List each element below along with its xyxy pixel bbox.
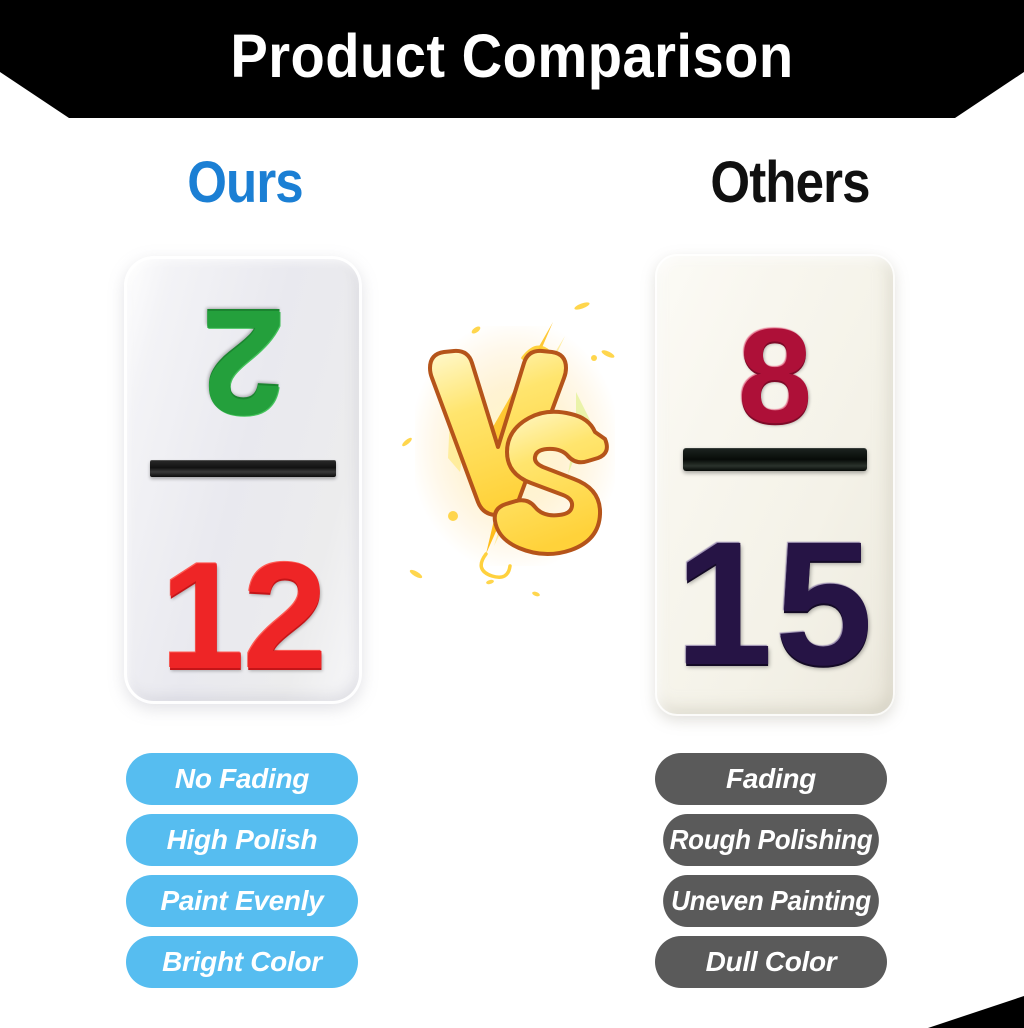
feature-pill-label: Dull Color [706, 946, 837, 977]
product-tile-others: 8 15 [655, 254, 895, 716]
feature-pill-ours-0[interactable]: No Fading [126, 753, 358, 805]
feature-pill-label: High Polish [167, 824, 318, 855]
feature-pill-others-0[interactable]: Fading [655, 753, 887, 805]
column-heading-others: Others [658, 148, 922, 218]
page-title: Product Comparison [41, 22, 983, 90]
feature-pill-others-3[interactable]: Dull Color [655, 936, 887, 988]
column-heading-ours: Ours [113, 148, 377, 218]
feature-pill-label: Rough Polishing [670, 824, 873, 855]
tile-others-bottom-number: 15 [655, 516, 895, 692]
feature-pill-ours-3[interactable]: Bright Color [126, 936, 358, 988]
feature-pill-label: Paint Evenly [161, 885, 324, 916]
feature-pill-others-2[interactable]: Uneven Painting [663, 875, 879, 927]
feature-pill-label: Fading [726, 763, 816, 794]
feature-pill-label: Uneven Painting [671, 885, 871, 916]
lightning-bolt-icon [390, 296, 640, 606]
tile-ours-divider-bar [150, 460, 336, 477]
feature-pill-label: No Fading [175, 763, 309, 794]
tile-ours-bottom-number: 12 [124, 540, 362, 692]
feature-pill-ours-2[interactable]: Paint Evenly [126, 875, 358, 927]
feature-pill-ours-1[interactable]: High Polish [126, 814, 358, 866]
corner-accent-triangle [928, 996, 1024, 1028]
tile-ours-top-number: 2 [124, 288, 362, 438]
tile-others-top-number: 8 [655, 310, 895, 444]
feature-pill-label: Bright Color [162, 946, 322, 977]
versus-badge [390, 296, 640, 606]
tile-others-divider-bar [683, 448, 867, 471]
feature-pill-others-1[interactable]: Rough Polishing [663, 814, 879, 866]
product-tile-ours: 2 12 [124, 256, 362, 704]
